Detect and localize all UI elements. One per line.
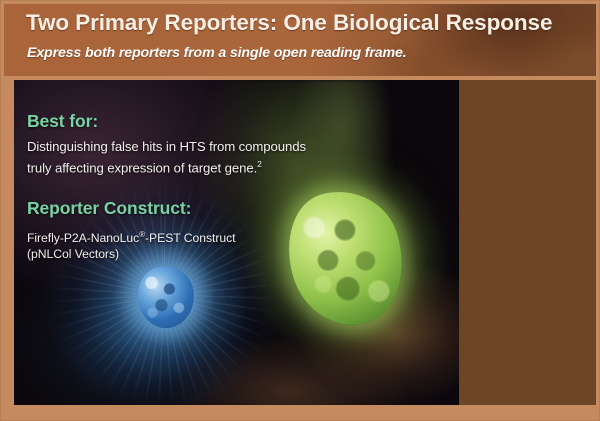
construct-name-suffix: -PEST Construct [145, 231, 235, 245]
construct-vectors: (pNLCol Vectors) [27, 247, 119, 261]
construct-text: Firefly-P2A-NanoLuc®-PEST Construct (pNL… [27, 227, 236, 262]
best-for-body-line1: Distinguishing false hits in HTS from co… [27, 139, 306, 154]
reporter-construct-heading: Reporter Construct: [27, 198, 191, 219]
construct-name-prefix: Firefly-P2A-NanoLuc [27, 231, 139, 245]
footnote-marker: 2 [257, 159, 262, 169]
best-for-body: Distinguishing false hits in HTS from co… [27, 138, 306, 176]
poster-header: Two Primary Reporters: One Biological Re… [4, 4, 596, 76]
copy-block: Best for: Distinguishing false hits in H… [14, 80, 314, 405]
page-subtitle: Express both reporters from a single ope… [27, 45, 407, 61]
best-for-heading: Best for: [27, 111, 98, 132]
charts-panel-frame: True Hit NlucFluc Nluc Stabilization Nlu… [459, 80, 596, 405]
best-for-body-line2: truly affecting expression of target gen… [27, 160, 257, 175]
artwork-area: Best for: Distinguishing false hits in H… [14, 80, 459, 405]
page-title: Two Primary Reporters: One Biological Re… [26, 10, 552, 36]
poster-root: Two Primary Reporters: One Biological Re… [0, 0, 600, 421]
